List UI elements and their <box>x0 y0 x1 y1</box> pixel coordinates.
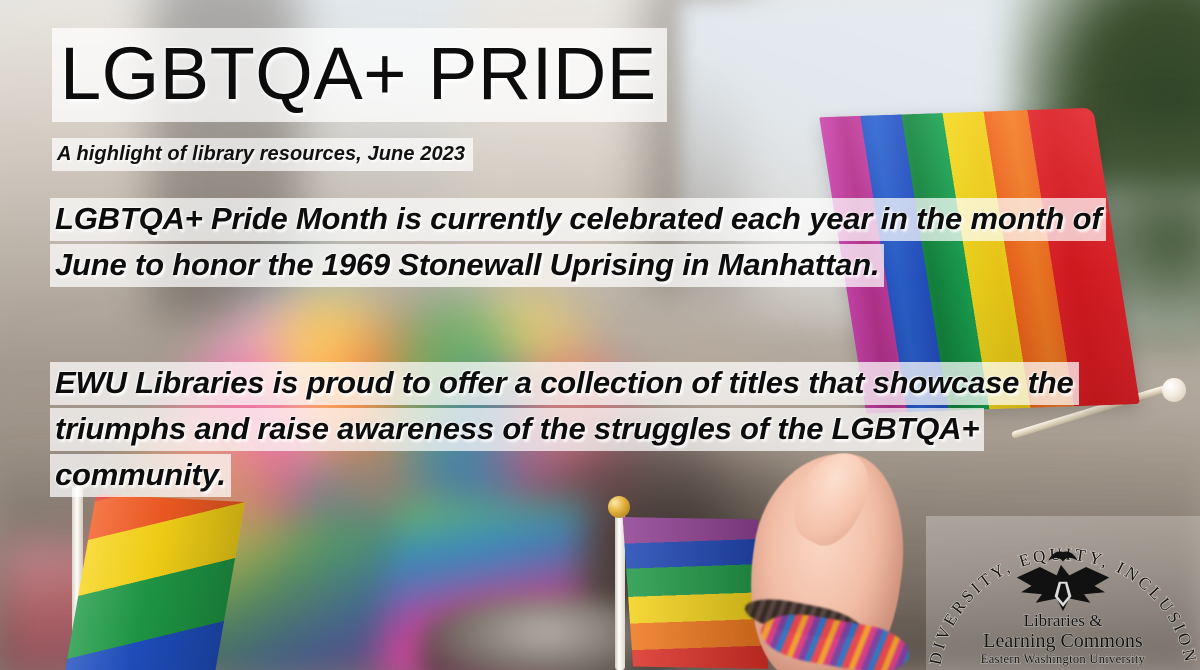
logo-line-2: Learning Commons <box>983 630 1143 652</box>
page-subtitle: A highlight of library resources, June 2… <box>52 138 473 171</box>
page-subtitle-text: A highlight of library resources, June 2… <box>52 138 473 171</box>
page-title: LGBTQA+ PRIDE <box>52 28 667 122</box>
body-paragraph-2-text: EWU Libraries is proud to offer a collec… <box>50 362 1079 497</box>
logo-line-1: Libraries & <box>1024 611 1103 630</box>
body-paragraph-2: EWU Libraries is proud to offer a collec… <box>50 360 1120 498</box>
body-paragraph-1-text: LGBTQA+ Pride Month is currently celebra… <box>50 198 1106 287</box>
logo-line-3: Eastern Washington University <box>981 652 1146 666</box>
ewu-libraries-logo: DIVERSITY, EQUITY, INCLUSION Libraries &… <box>926 516 1200 670</box>
body-paragraph-1: LGBTQA+ Pride Month is currently celebra… <box>50 196 1120 288</box>
pride-poster: LGBTQA+ PRIDE A highlight of library res… <box>0 0 1200 670</box>
page-title-text: LGBTQA+ PRIDE <box>52 28 667 122</box>
